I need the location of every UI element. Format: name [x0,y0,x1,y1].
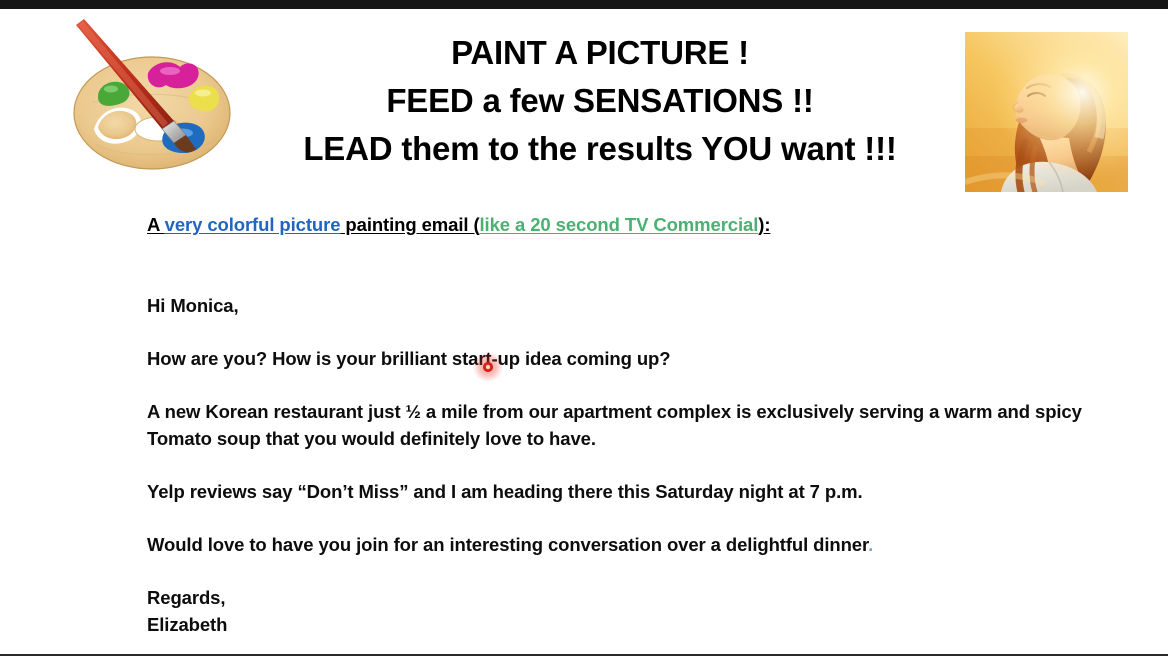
slide-canvas: PAINT A PICTURE ! FEED a few SENSATIONS … [0,9,1168,654]
email-sign-off: Regards, [147,584,1142,611]
headline-line-2: FEED a few SENSATIONS !! [250,77,950,125]
email-paragraph-1: How are you? How is your brilliant start… [147,345,1142,372]
header-row: PAINT A PICTURE ! FEED a few SENSATIONS … [0,9,1168,189]
paint-palette-icon [62,17,238,185]
headline-line-1: PAINT A PICTURE ! [250,29,950,77]
subtitle-part-2: painting email ( [340,214,479,235]
page-title: PAINT A PICTURE ! FEED a few SENSATIONS … [250,29,950,173]
email-greeting: Hi Monica, [147,292,1142,319]
subtitle-link-blue[interactable]: very colorful picture [165,214,341,235]
email-paragraph-3: Yelp reviews say “Don’t Miss” and I am h… [147,478,1142,505]
email-body: Hi Monica, How are you? How is your bril… [147,292,1142,638]
sunlight-photo [965,32,1128,192]
headline-line-3: LEAD them to the results YOU want !!! [250,125,950,173]
top-black-bar [0,0,1168,9]
email-sender-name: Elizabeth [147,611,1142,638]
subtitle-link-green[interactable]: like a 20 second TV Commercial [480,214,759,235]
email-paragraph-4: Would love to have you join for an inter… [147,531,1142,558]
subtitle-part-1: A [147,214,165,235]
email-paragraph-4-period: . [868,534,873,555]
email-paragraph-2: A new Korean restaurant just ½ a mile fr… [147,398,1142,452]
email-paragraph-2-line-1: A new Korean restaurant just ½ a mile fr… [147,401,1082,422]
email-paragraph-2-line-2: Tomato soup that you would definitely lo… [147,428,596,449]
subtitle-part-3: ): [758,214,770,235]
subtitle-line: A very colorful picture painting email (… [147,214,770,236]
email-paragraph-4-text: Would love to have you join for an inter… [147,534,868,555]
